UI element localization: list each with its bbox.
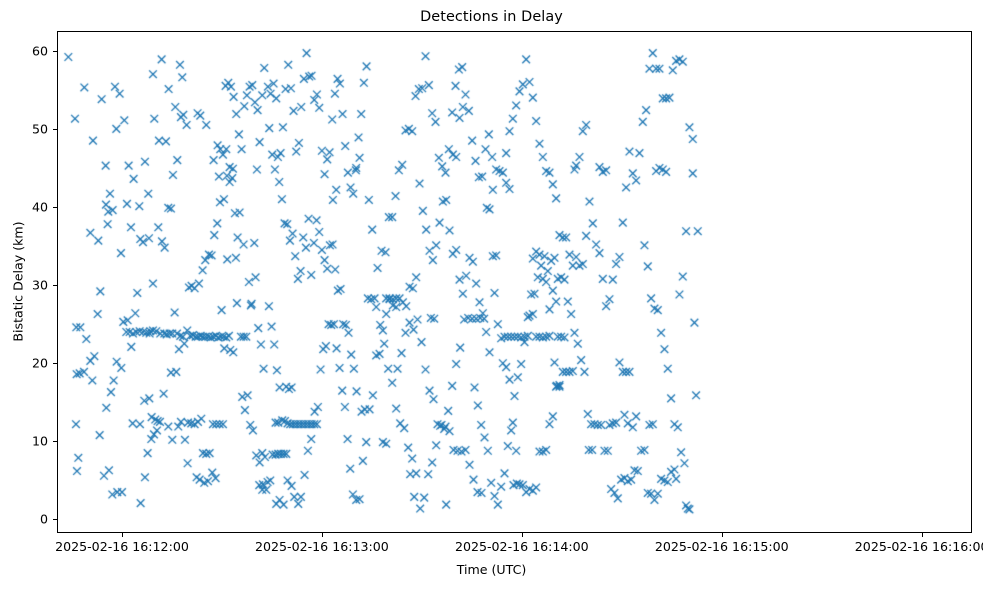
y-tick-mark <box>53 207 57 208</box>
y-axis-label: Bistatic Delay (km) <box>11 202 26 362</box>
x-tick-label: 2025-02-16 16:12:00 <box>55 539 189 554</box>
plot-axes <box>57 31 972 533</box>
y-tick-mark <box>53 51 57 52</box>
x-tick-mark <box>122 533 123 537</box>
y-tick-label: 10 <box>0 434 48 449</box>
x-axis-label: Time (UTC) <box>0 562 983 577</box>
x-tick-mark <box>922 533 923 537</box>
x-tick-mark <box>322 533 323 537</box>
page-title: Detections in Delay <box>0 8 983 26</box>
y-tick-mark <box>53 363 57 364</box>
x-tick-label: 2025-02-16 16:14:00 <box>455 539 589 554</box>
y-tick-label: 50 <box>0 121 48 136</box>
x-tick-label: 2025-02-16 16:13:00 <box>255 539 389 554</box>
y-tick-mark <box>53 129 57 130</box>
scatter-plot-canvas <box>58 32 971 532</box>
x-tick-mark <box>722 533 723 537</box>
x-tick-label: 2025-02-16 16:16:00 <box>855 539 983 554</box>
x-tick-mark <box>522 533 523 537</box>
y-tick-mark <box>53 441 57 442</box>
matplotlib-figure: Detections in Delay 01020304050602025-02… <box>0 0 983 590</box>
y-tick-label: 60 <box>0 43 48 58</box>
x-tick-label: 2025-02-16 16:15:00 <box>655 539 789 554</box>
y-tick-mark <box>53 519 57 520</box>
y-tick-label: 0 <box>0 512 48 527</box>
y-tick-mark <box>53 285 57 286</box>
